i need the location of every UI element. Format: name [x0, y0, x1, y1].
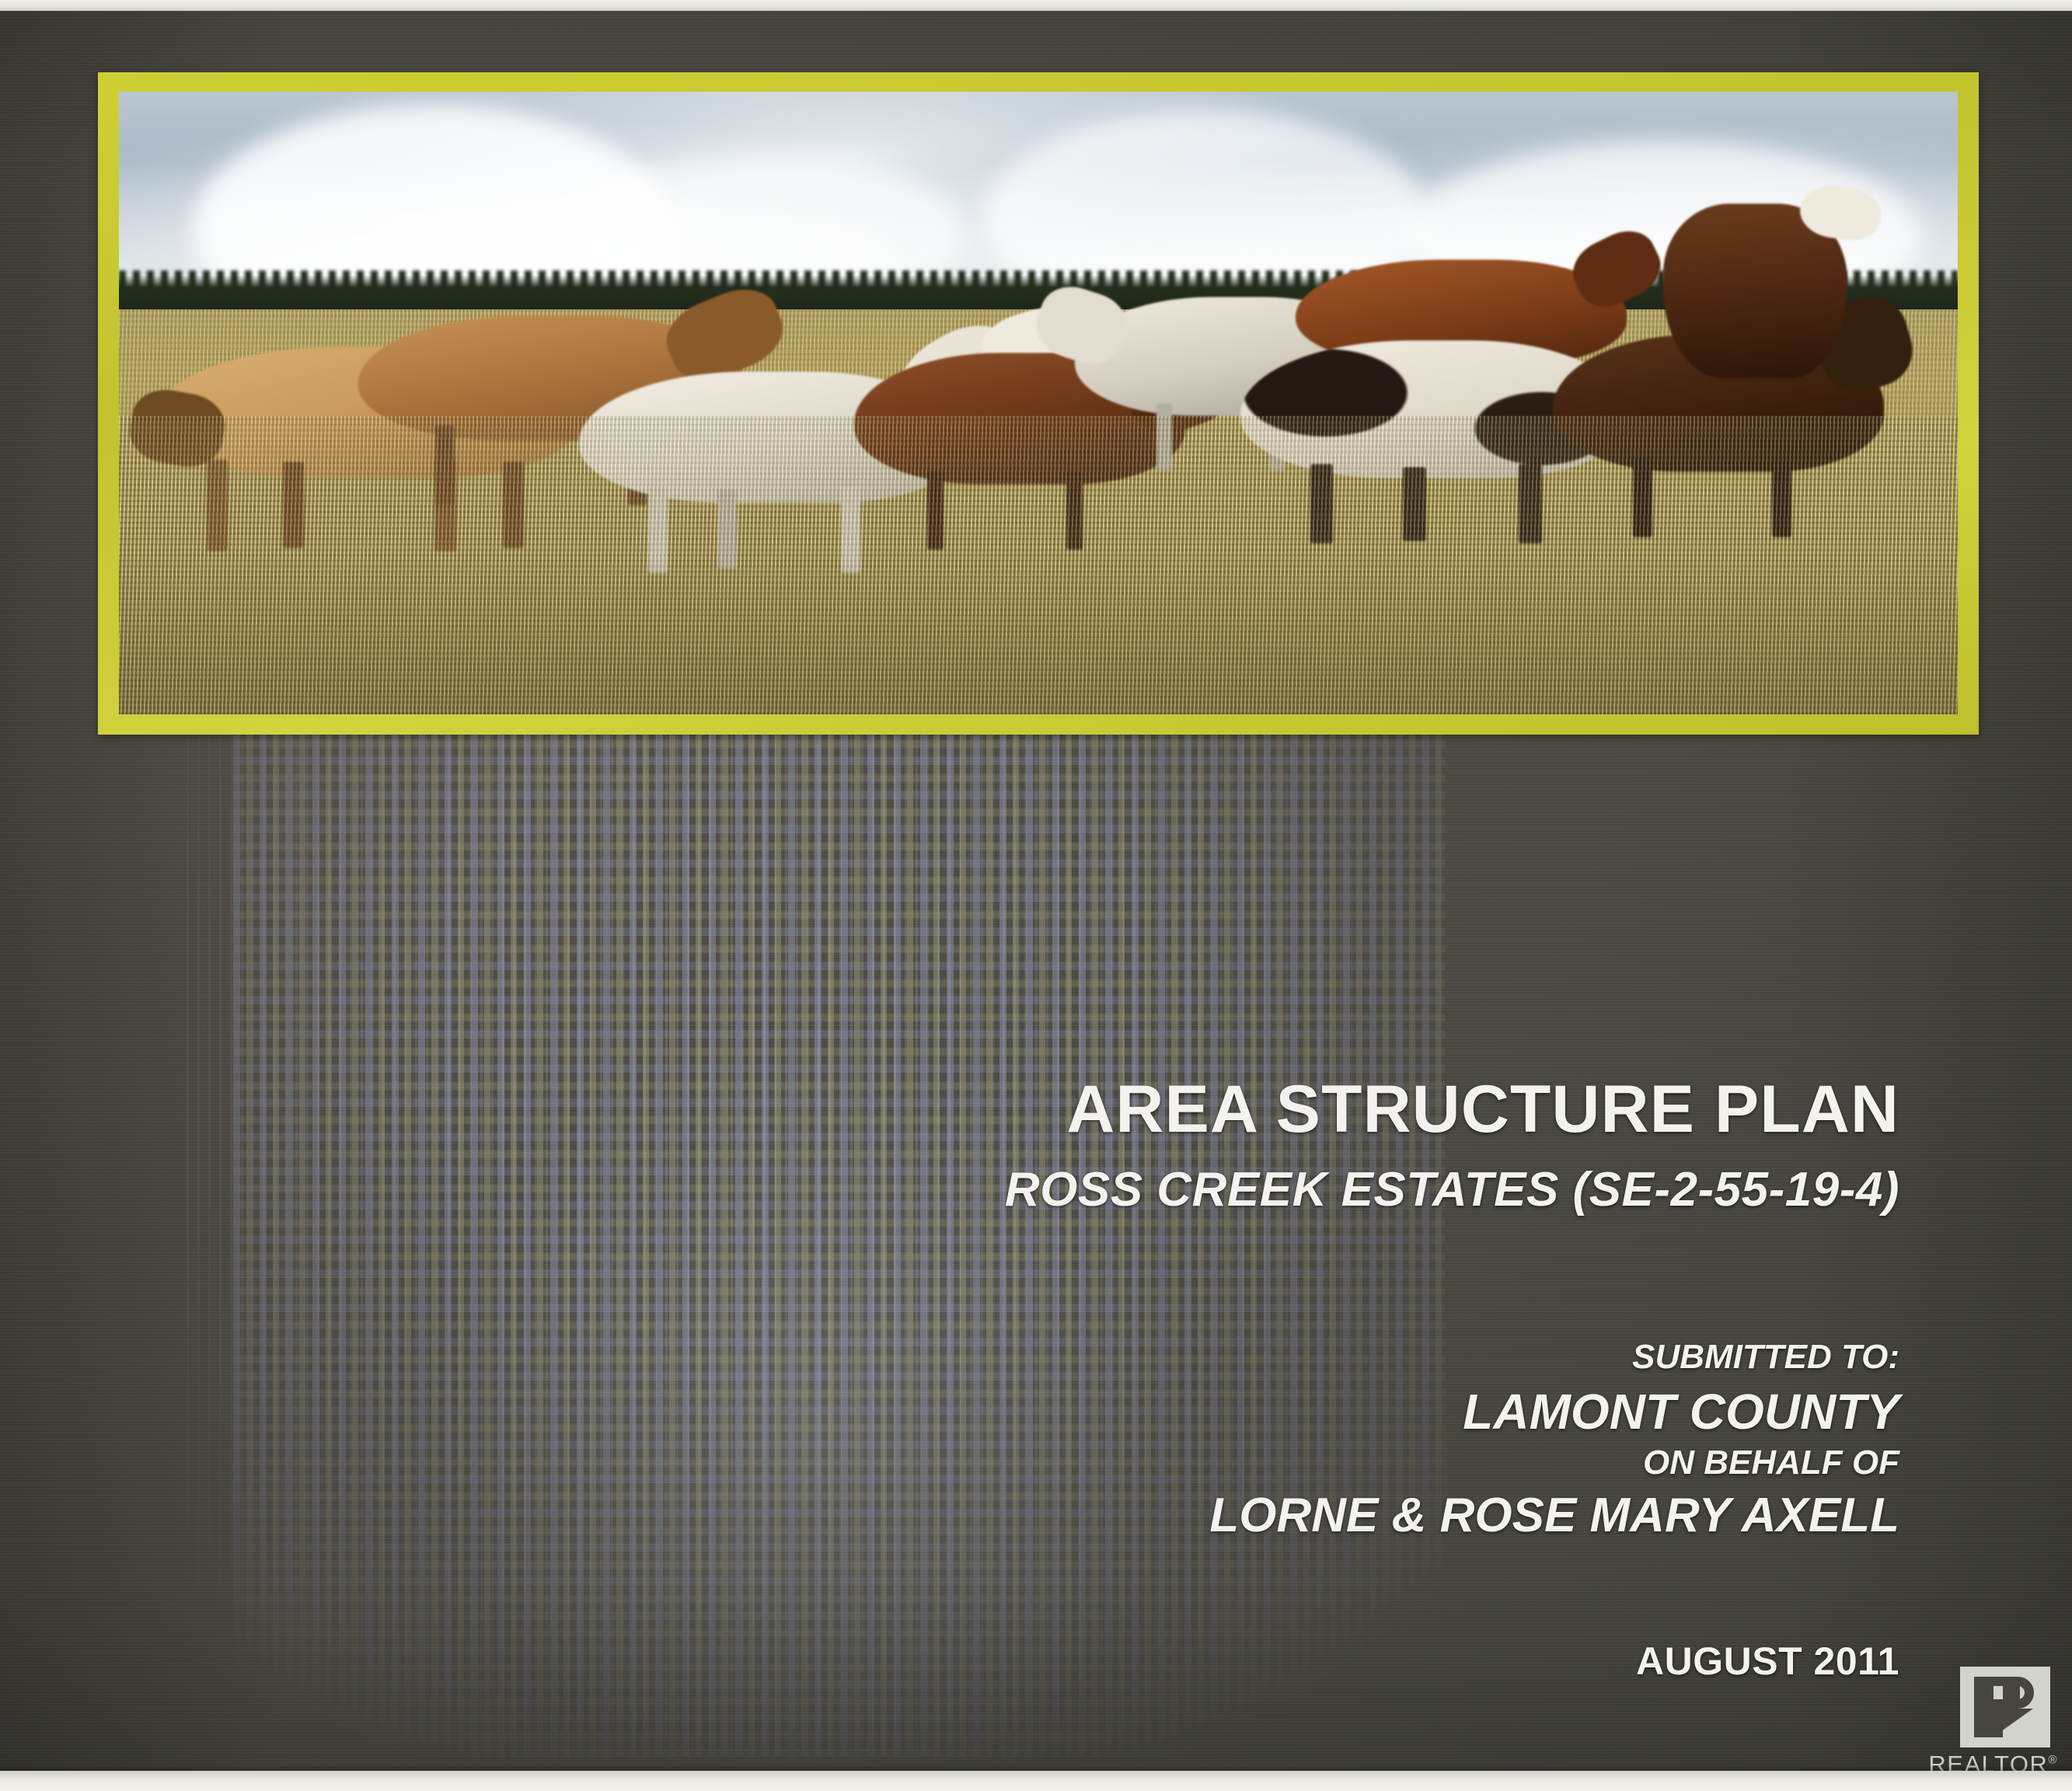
- realtor-r-mark-icon: [1960, 1667, 2050, 1747]
- cover-title-block: AREA STRUCTURE PLAN ROSS CREEK ESTATES (…: [625, 1074, 1899, 1217]
- page-edge-bottom-shadow: [0, 1765, 2072, 1771]
- realtor-r-stem: [1974, 1677, 1994, 1737]
- document-cover-page: AREA STRUCTURE PLAN ROSS CREEK ESTATES (…: [0, 0, 2072, 1791]
- realtor-r-counter: [2003, 1686, 2020, 1699]
- recipient-name: LAMONT COUNTY: [625, 1384, 1899, 1440]
- page-edge-bottom: [0, 1771, 2072, 1791]
- realtor-logo: REALTOR®: [1926, 1664, 2064, 1780]
- photo-foreground-texture: [119, 416, 1958, 714]
- on-behalf-of-label: ON BEHALF OF: [625, 1443, 1899, 1484]
- realtor-r-diagonal-notch: [1994, 1709, 2003, 1737]
- horse-figure: [1663, 204, 1847, 378]
- page-title: AREA STRUCTURE PLAN: [625, 1074, 1899, 1144]
- cover-photo: [119, 92, 1958, 714]
- owner-names: LORNE & ROSE MARY AXELL: [625, 1489, 1899, 1542]
- submission-block: SUBMITTED TO: LAMONT COUNTY ON BEHALF OF…: [625, 1337, 1899, 1543]
- document-date: AUGUST 2011: [1636, 1639, 1899, 1684]
- submitted-to-label: SUBMITTED TO:: [625, 1337, 1899, 1378]
- page-edge-top: [0, 0, 2072, 11]
- page-subtitle: ROSS CREEK ESTATES (SE-2-55-19-4): [625, 1164, 1899, 1217]
- cover-photo-frame: [98, 72, 1979, 735]
